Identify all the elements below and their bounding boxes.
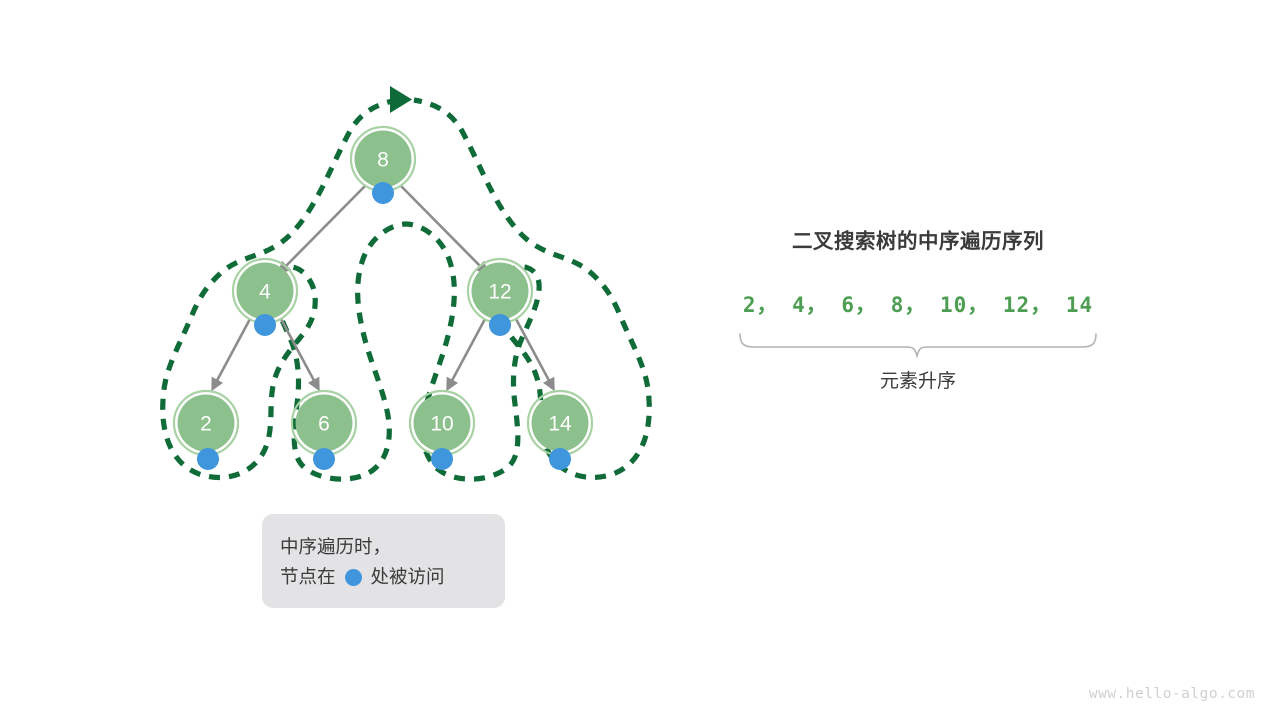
node-label: 14 xyxy=(548,413,572,436)
visit-dot-icon xyxy=(345,569,362,586)
visit-dots-group xyxy=(197,182,571,470)
node-label: 12 xyxy=(488,281,511,304)
visit-dot-10 xyxy=(431,448,453,470)
tree-node-12[interactable]: 12 xyxy=(468,259,532,323)
visit-dot-8 xyxy=(372,182,394,204)
visit-dot-12 xyxy=(489,314,511,336)
sequence-panel: 二叉搜索树的中序遍历序列 2， 4， 6， 8， 10， 12， 14 元素升序 xyxy=(700,232,1136,391)
node-label: 4 xyxy=(259,281,271,304)
watermark: www.hello-algo.com xyxy=(1089,686,1255,702)
play-arrow-icon xyxy=(390,86,412,113)
visit-dot-14 xyxy=(549,448,571,470)
visit-dot-6 xyxy=(313,448,335,470)
node-label: 8 xyxy=(377,149,389,172)
tree-nodes-group: 8 4 12 2 6 xyxy=(174,127,592,455)
tree-node-4[interactable]: 4 xyxy=(233,259,297,323)
legend-box: 中序遍历时， 节点在 处被访问 xyxy=(262,514,505,608)
tree-node-2[interactable]: 2 xyxy=(174,391,238,455)
node-label: 6 xyxy=(318,413,330,436)
node-label: 10 xyxy=(430,413,453,436)
legend-line-2: 节点在 处被访问 xyxy=(280,562,505,592)
edge-8-4 xyxy=(280,186,365,272)
inorder-sequence: 2， 4， 6， 8， 10， 12， 14 xyxy=(700,295,1136,316)
curly-brace-icon xyxy=(738,332,1098,358)
node-label: 2 xyxy=(200,413,212,436)
panel-title: 二叉搜索树的中序遍历序列 xyxy=(700,232,1136,253)
edge-12-10 xyxy=(448,319,485,388)
brace-wrapper xyxy=(700,332,1136,358)
visit-dot-2 xyxy=(197,448,219,470)
legend-line-1: 中序遍历时， xyxy=(280,532,505,562)
tree-node-10[interactable]: 10 xyxy=(410,391,474,455)
tree-node-14[interactable]: 14 xyxy=(528,391,592,455)
legend-line-2-suffix: 处被访问 xyxy=(371,562,445,592)
legend-line-2-prefix: 节点在 xyxy=(280,562,336,592)
edge-8-12 xyxy=(401,186,486,272)
visit-dot-4 xyxy=(254,314,276,336)
figure-canvas: 8 4 12 2 6 xyxy=(0,0,1280,720)
legend-line-1-text: 中序遍历时， xyxy=(280,532,391,562)
edge-4-2 xyxy=(213,319,250,388)
tree-node-8[interactable]: 8 xyxy=(351,127,415,191)
panel-caption: 元素升序 xyxy=(700,372,1136,391)
tree-node-6[interactable]: 6 xyxy=(292,391,356,455)
